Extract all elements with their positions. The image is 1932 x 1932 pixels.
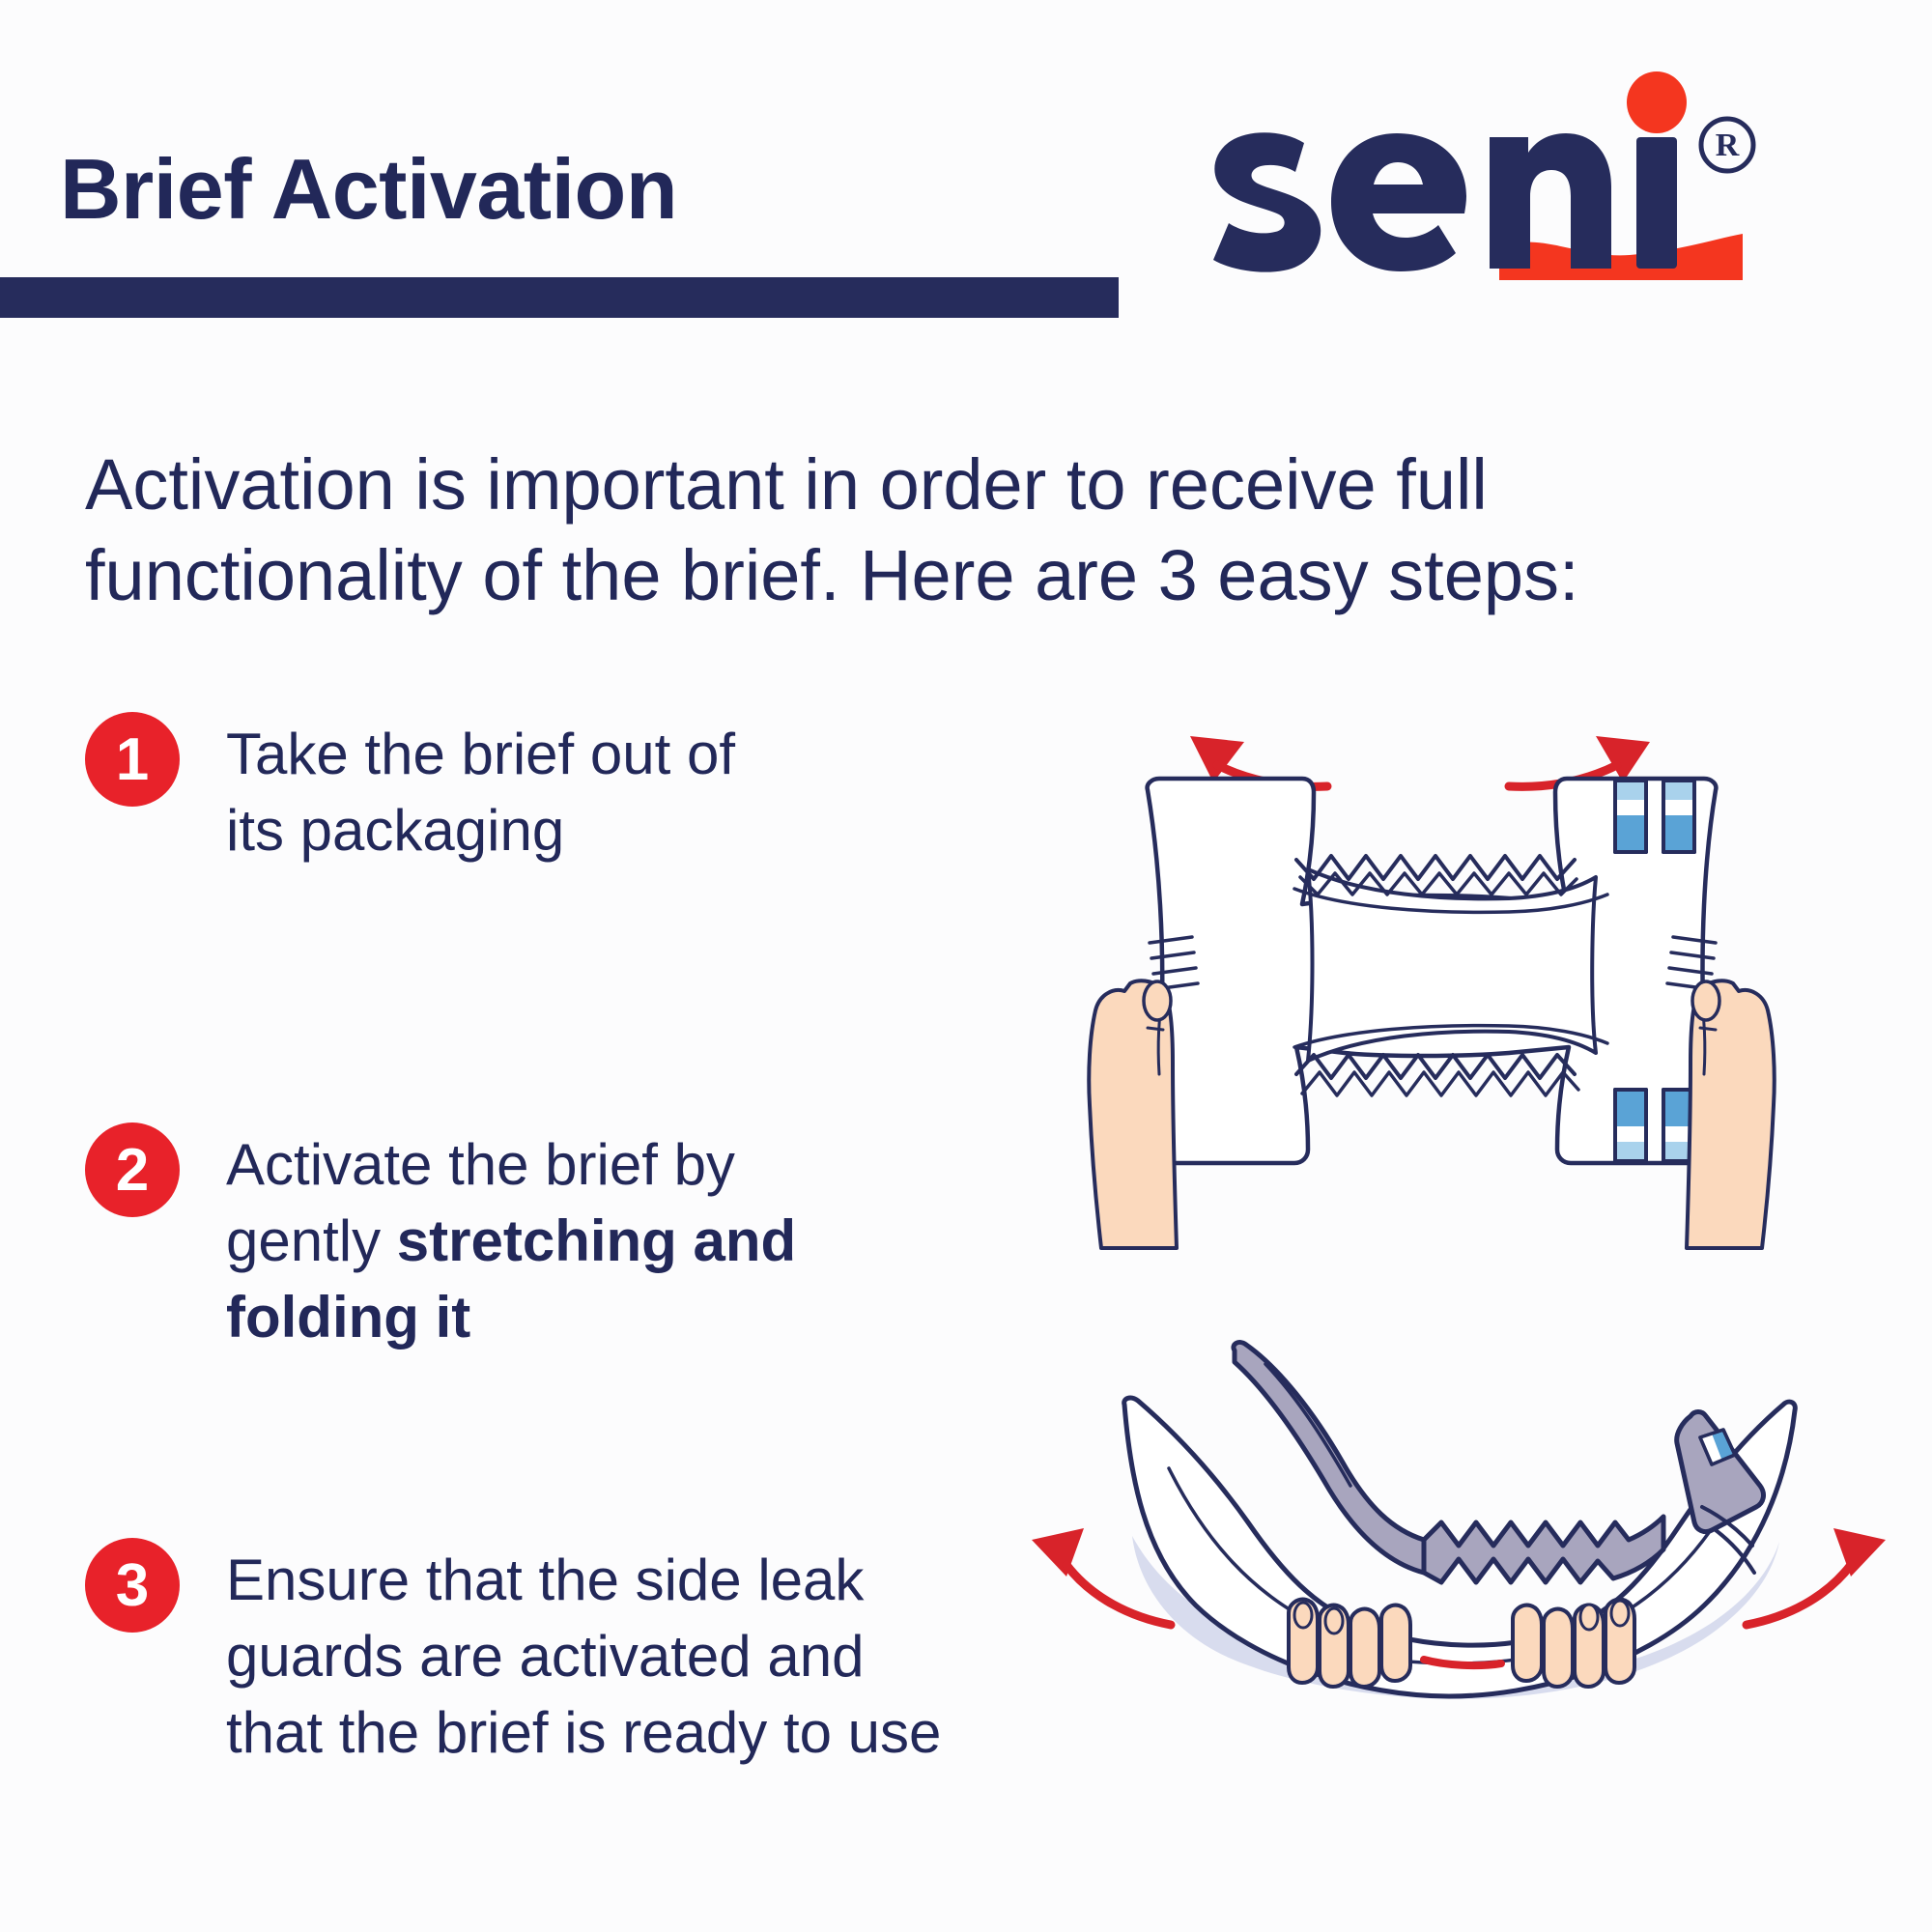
title-underline-rule xyxy=(0,277,1119,318)
seni-logo: R xyxy=(1190,70,1808,292)
infographic-page: Brief Activation R Activation is importa… xyxy=(0,0,1932,1932)
brief-stretch-illustration xyxy=(1055,715,1866,1256)
step-number-badge-1: 1 xyxy=(85,712,180,807)
step-item-1: 1 Take the brief out ofits packaging xyxy=(85,710,954,868)
step-number-badge-3: 3 xyxy=(85,1538,180,1633)
step-text-2: Activate the brief bygently stretching a… xyxy=(226,1121,796,1356)
page-title: Brief Activation xyxy=(60,147,677,232)
step-text-3: Ensure that the side leakguards are acti… xyxy=(226,1536,941,1772)
brief-fold-illustration xyxy=(1024,1323,1893,1758)
step-item-3: 3 Ensure that the side leakguards are ac… xyxy=(85,1536,954,1772)
step-item-2: 2 Activate the brief bygently stretching… xyxy=(85,1121,954,1356)
step-text-1: Take the brief out ofits packaging xyxy=(226,710,735,868)
step-number-badge-2: 2 xyxy=(85,1122,180,1217)
intro-paragraph: Activation is important in order to rece… xyxy=(85,440,1766,621)
svg-text:R: R xyxy=(1716,128,1740,163)
